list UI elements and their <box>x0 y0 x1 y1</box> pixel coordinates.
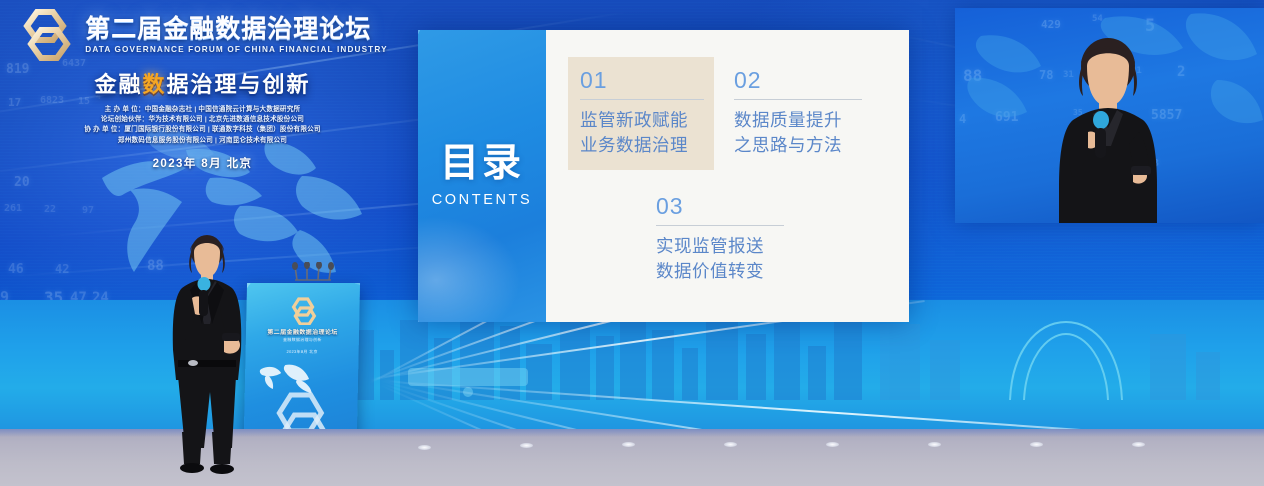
floor-light <box>826 442 839 447</box>
toc-item-3-text: 实现监管报送 数据价值转变 <box>656 234 784 284</box>
podium-date: 2023年8月 北京 <box>246 349 359 355</box>
hexagon-interlock-logo-icon <box>17 8 77 62</box>
toc-item-2-rule <box>734 99 862 100</box>
poster-title-cn: 第二届金融数据治理论坛 <box>85 16 387 42</box>
subtitle-highlight-char: 数 <box>142 72 166 97</box>
slide-left-panel: 目录 CONTENTS <box>418 30 546 322</box>
organizer-line-3: 协 办 单 位：厦门国际银行股份有限公司 | 联通数字科技（集团）股份有限公司 <box>0 125 405 135</box>
floor-light <box>520 443 533 448</box>
presenter-on-stage <box>152 232 262 479</box>
floor-light <box>418 445 431 450</box>
presentation-slide: 目录 CONTENTS 01 监管新政赋能 业务数据治理 02 数据质量提升 之… <box>418 30 909 322</box>
slide-heading-cn: 目录 <box>440 144 524 183</box>
stage-scene: 8196437176823154202612297464288935472446… <box>0 0 1264 486</box>
organizer-line-2: 论坛创始伙伴：华为技术有限公司 | 北京先进数通信息技术股份公司 <box>0 115 405 125</box>
poster-subtitle-cn: 金融数据治理与创新 <box>0 67 405 99</box>
toc-item-3-rule <box>656 225 784 226</box>
toc-item-1[interactable]: 01 监管新政赋能 业务数据治理 <box>580 69 704 158</box>
toc-item-3[interactable]: 03 实现监管报送 数据价值转变 <box>656 195 784 284</box>
podium-subtitle: 金融数据治理与创新 <box>246 337 359 343</box>
subtitle-part-1: 金融 <box>94 72 142 97</box>
podium-hexagon-logo-icon <box>287 297 320 325</box>
podium-title: 第二届金融数据治理论坛 <box>246 327 359 336</box>
poster-title-en: DATA GOVERNANCE FORUM OF CHINA FINANCIAL… <box>85 45 387 54</box>
slide-heading-en: CONTENTS <box>432 192 533 208</box>
floor-light <box>724 442 737 447</box>
floor-light <box>1030 442 1043 447</box>
poster-organizers-block: 主 办 单 位：中国金融杂志社 | 中国信通院云计算与大数据研究所 论坛创始伙伴… <box>0 105 405 146</box>
organizer-line-4: 郑州数码信息服务股份有限公司 | 河南昆仑技术有限公司 <box>0 136 405 146</box>
toc-item-3-number: 03 <box>656 195 784 218</box>
toc-item-2-number: 02 <box>734 69 862 92</box>
toc-item-2-text: 数据质量提升 之思路与方法 <box>734 108 862 158</box>
forum-key-visual-poster: 第二届金融数据治理论坛 DATA GOVERNANCE FORUM OF CHI… <box>0 0 415 175</box>
floor-light <box>1132 442 1145 447</box>
toc-item-2[interactable]: 02 数据质量提升 之思路与方法 <box>734 69 862 158</box>
podium-calligraphy <box>257 359 316 393</box>
toc-item-1-text: 监管新政赋能 业务数据治理 <box>580 108 704 158</box>
subtitle-part-2: 据治理与创新 <box>167 72 311 97</box>
slide-content-panel: 01 监管新政赋能 业务数据治理 02 数据质量提升 之思路与方法 03 实现监… <box>546 30 909 322</box>
organizer-line-1: 主 办 单 位：中国金融杂志社 | 中国信通院云计算与大数据研究所 <box>0 105 405 115</box>
floor-light <box>622 442 635 447</box>
live-feed-speaker <box>1033 36 1183 223</box>
toc-item-1-number: 01 <box>580 69 704 92</box>
live-camera-screen: 429545887831412469135485857973 <box>955 8 1264 223</box>
floor-light <box>928 442 941 447</box>
toc-item-1-rule <box>580 99 704 100</box>
poster-date-line: 2023年 8月 北京 <box>0 155 405 171</box>
